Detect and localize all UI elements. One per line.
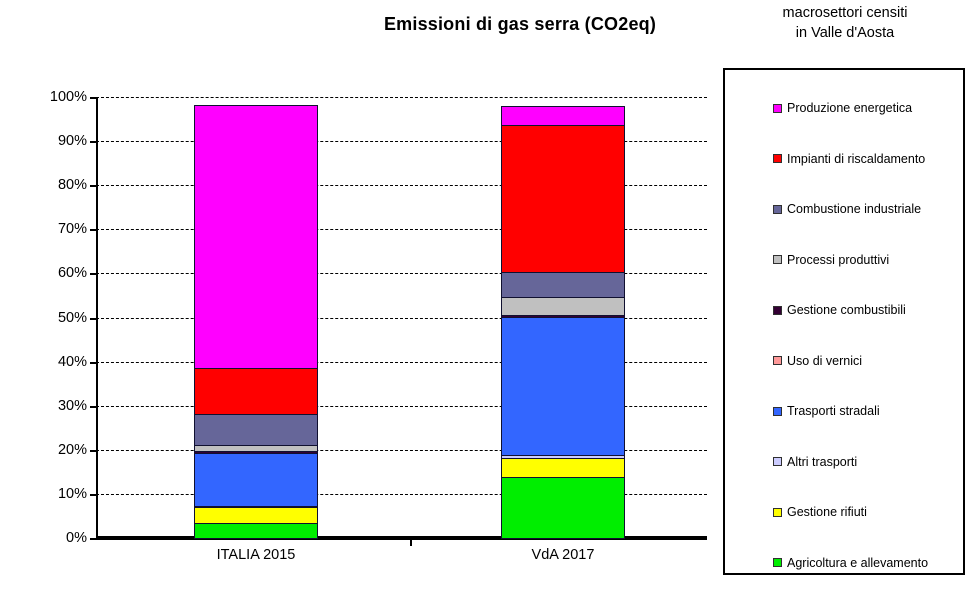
bar-segment[interactable] <box>194 368 318 416</box>
legend-label: Impianti di riscaldamento <box>787 153 925 166</box>
plot-area <box>96 97 707 538</box>
y-tick-label: 10% <box>29 486 87 502</box>
bar-segment[interactable] <box>194 453 318 507</box>
bar-segment[interactable] <box>501 458 625 479</box>
legend-item[interactable]: Produzione energetica <box>773 102 912 115</box>
legend-item[interactable]: Combustione industriale <box>773 203 921 216</box>
y-tick-label: 0% <box>29 530 87 546</box>
legend-item[interactable]: Uso di vernici <box>773 355 862 368</box>
legend-label: Produzione energetica <box>787 102 912 115</box>
bar-italia-2015[interactable] <box>194 97 318 538</box>
legend-label: Agricoltura e allevamento <box>787 557 928 570</box>
legend-box: Produzione energeticaImpianti di riscald… <box>723 68 965 575</box>
bar-segment[interactable] <box>194 507 318 524</box>
y-tick-mark <box>90 273 96 275</box>
legend-swatch-icon <box>773 306 782 315</box>
legend-header: macrosettori censiti in Valle d'Aosta <box>722 4 968 43</box>
y-tick-mark <box>90 450 96 452</box>
legend-swatch-icon <box>773 154 782 163</box>
legend-label: Gestione rifiuti <box>787 506 867 519</box>
legend-item[interactable]: Gestione rifiuti <box>773 506 867 519</box>
y-tick-label: 70% <box>29 221 87 237</box>
bar-segment[interactable] <box>194 414 318 446</box>
bar-segment[interactable] <box>501 477 625 539</box>
x-tick-label: ITALIA 2015 <box>136 547 376 563</box>
legend-item[interactable]: Gestione combustibili <box>773 304 906 317</box>
bar-segment[interactable] <box>501 125 625 272</box>
legend-swatch-icon <box>773 356 782 365</box>
bar-segment[interactable] <box>501 272 625 298</box>
bar-vda-2017[interactable] <box>501 97 625 538</box>
bar-segment[interactable] <box>501 106 625 126</box>
legend-label: Altri trasporti <box>787 456 857 469</box>
bar-segment[interactable] <box>194 105 318 369</box>
y-tick-mark <box>90 538 96 540</box>
y-tick-mark <box>90 494 96 496</box>
legend-item[interactable]: Impianti di riscaldamento <box>773 153 925 166</box>
legend-item[interactable]: Processi produttivi <box>773 254 889 267</box>
bar-segment[interactable] <box>501 317 625 456</box>
y-tick-label: 60% <box>29 265 87 281</box>
y-tick-mark <box>90 406 96 408</box>
legend-label: Processi produttivi <box>787 254 889 267</box>
legend-swatch-icon <box>773 255 782 264</box>
y-tick-label: 40% <box>29 354 87 370</box>
legend-swatch-icon <box>773 205 782 214</box>
y-tick-label: 50% <box>29 310 87 326</box>
legend-label: Combustione industriale <box>787 203 921 216</box>
legend-label: Trasporti stradali <box>787 405 880 418</box>
y-tick-label: 30% <box>29 398 87 414</box>
y-tick-mark <box>90 141 96 143</box>
legend-item[interactable]: Agricoltura e allevamento <box>773 557 928 570</box>
legend-swatch-icon <box>773 508 782 517</box>
legend-swatch-icon <box>773 407 782 416</box>
legend-label: Gestione combustibili <box>787 304 906 317</box>
y-tick-mark <box>90 229 96 231</box>
y-tick-label: 100% <box>29 89 87 105</box>
legend-header-line-1: macrosettori censiti <box>722 4 968 24</box>
bar-segment[interactable] <box>501 297 625 316</box>
chart-title: Emissioni di gas serra (CO2eq) <box>330 14 710 35</box>
legend-swatch-icon <box>773 457 782 466</box>
y-tick-label: 20% <box>29 442 87 458</box>
bar-segment[interactable] <box>194 523 318 539</box>
y-tick-mark <box>90 185 96 187</box>
legend-header-line-2: in Valle d'Aosta <box>722 24 968 44</box>
legend-item[interactable]: Trasporti stradali <box>773 405 880 418</box>
y-tick-label: 80% <box>29 177 87 193</box>
legend-swatch-icon <box>773 104 782 113</box>
legend-item[interactable]: Altri trasporti <box>773 456 857 469</box>
x-tick-label: VdA 2017 <box>443 547 683 563</box>
x-tick-mark <box>410 538 412 546</box>
y-tick-mark <box>90 318 96 320</box>
y-tick-mark <box>90 97 96 99</box>
y-tick-mark <box>90 362 96 364</box>
y-tick-label: 90% <box>29 133 87 149</box>
legend-label: Uso di vernici <box>787 355 862 368</box>
legend-swatch-icon <box>773 558 782 567</box>
